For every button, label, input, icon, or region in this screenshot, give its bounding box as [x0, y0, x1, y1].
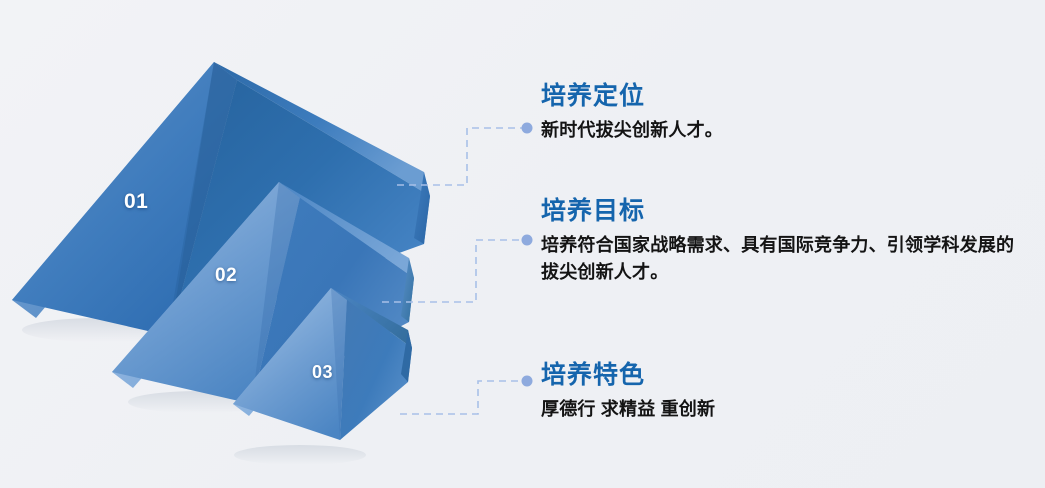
- item-block-02: 培养目标 培养符合国家战略需求、具有国际竞争力、引领学科发展的拔尖创新人才。: [541, 197, 1021, 287]
- item-body-02: 培养符合国家战略需求、具有国际竞争力、引领学科发展的拔尖创新人才。: [541, 232, 1021, 287]
- connector-dot-3: [522, 376, 533, 387]
- connector-dot-2: [522, 235, 533, 246]
- item-body-03: 厚德行 求精益 重创新: [541, 396, 715, 423]
- chevron-stack-graphic: [0, 0, 520, 488]
- item-block-01: 培养定位 新时代拔尖创新人才。: [541, 82, 723, 144]
- connector-dot-1: [522, 123, 533, 134]
- infographic-canvas: 01 02 03 培养定位 新时代拔尖创新人才。 培养目标 培养符合国家战: [0, 0, 1045, 488]
- item-heading-01: 培养定位: [541, 82, 723, 111]
- item-block-03: 培养特色 厚德行 求精益 重创新: [541, 361, 715, 423]
- item-heading-03: 培养特色: [541, 361, 715, 390]
- item-body-01: 新时代拔尖创新人才。: [541, 117, 723, 144]
- connector-dots: [522, 123, 533, 387]
- item-heading-02: 培养目标: [541, 197, 1021, 226]
